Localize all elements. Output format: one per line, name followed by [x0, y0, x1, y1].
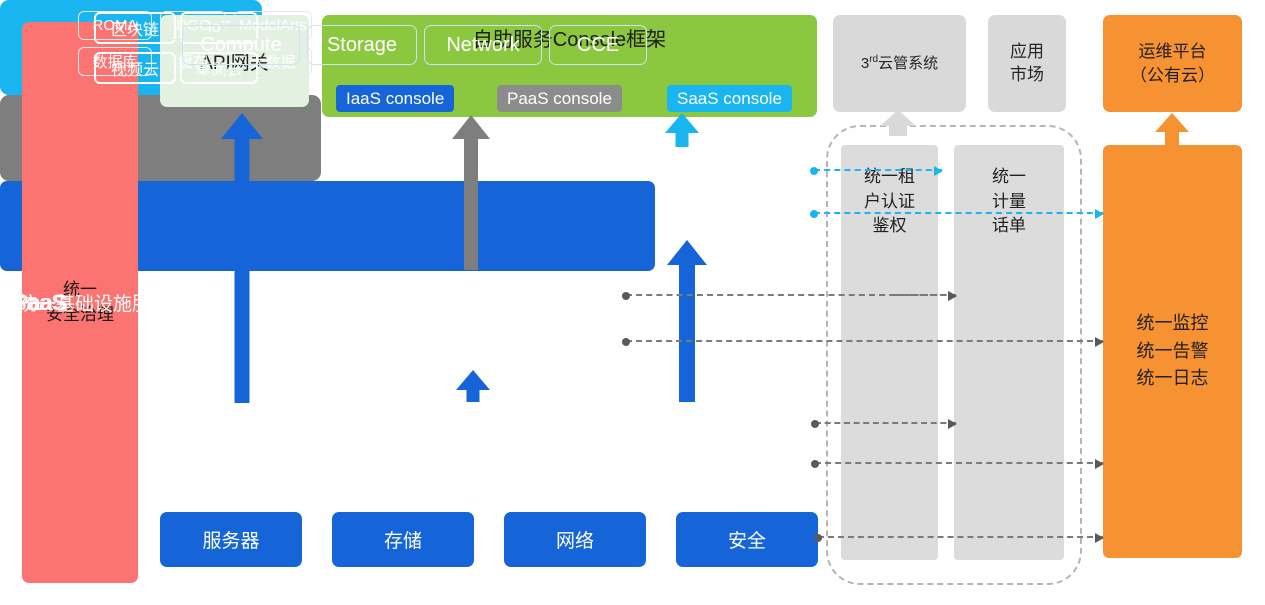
ops-body-line-3: 统一日志 [1137, 365, 1209, 393]
resource-tile-storage[interactable]: 存储 [332, 512, 474, 567]
resource-tile-server[interactable]: 服务器 [160, 512, 302, 567]
infra-chip-label: Compute [200, 34, 281, 57]
infra-service-cce[interactable]: CCE [549, 25, 647, 65]
arrow-infra-to-saas [667, 240, 707, 402]
dashed-paas-row2-to-ops [626, 340, 1103, 342]
arrow-shared-to-third-party [880, 110, 916, 136]
dashed-saas-to-ops [814, 212, 1103, 214]
third-party-prefix: 3 [861, 55, 869, 72]
resource-tile-label: 服务器 [202, 526, 259, 553]
unified-tenant-auth-column: 统一租 户认证 鉴权 [841, 145, 938, 560]
dashed-saas-to-auth [814, 169, 942, 171]
infra-service-compute[interactable]: Compute [182, 25, 300, 65]
arrow-infra-to-paas [456, 370, 490, 402]
ops-platform-line-1: 运维平台 [1130, 40, 1215, 64]
unified-metering-column: 统一 计量 话单 [954, 145, 1064, 560]
third-party-cloud-mgmt-box: 3rd云管系统 [833, 15, 966, 112]
infrastructure-label: 统一基础设施服务 [18, 0, 170, 605]
saas-console-chip[interactable]: SaaS console [667, 85, 792, 112]
unified-infrastructure-bar: 统一基础设施服务 Compute Storage Network CCE [0, 181, 655, 271]
resource-tile-security[interactable]: 安全 [676, 512, 818, 567]
resource-tile-network[interactable]: 网络 [504, 512, 646, 567]
infra-chip-label: CCE [577, 34, 619, 57]
ops-platform-header-box: 运维平台 （公有云） [1103, 15, 1242, 112]
metering-line-1: 统一 [992, 165, 1026, 190]
app-market-line-1: 应用 [1010, 41, 1044, 64]
resource-tile-label: 存储 [384, 526, 422, 553]
dashed-auth-to-metering [894, 294, 956, 296]
ops-body-line-1: 统一监控 [1137, 310, 1209, 338]
iaas-console-label: IaaS console [346, 89, 444, 109]
arrow-ops-body-to-ops-header [1155, 113, 1189, 145]
architecture-diagram-canvas: 统一 安全治理 API网关 自助服务Console框架 IaaS console… [0, 0, 1265, 605]
iaas-console-chip[interactable]: IaaS console [336, 85, 454, 112]
arrow-infra-to-api-gateway [221, 113, 263, 403]
metering-line-2: 计量 [992, 190, 1026, 215]
ops-platform-line-2: （公有云） [1130, 64, 1215, 88]
resource-tile-label: 安全 [728, 526, 766, 553]
arrow-paas-to-console [452, 115, 490, 270]
infra-chip-label: Storage [327, 34, 397, 57]
third-party-rest: 云管系统 [878, 55, 938, 72]
dashed-infra-row2-to-ops [815, 462, 1103, 464]
resource-tile-label: 网络 [556, 526, 594, 553]
auth-line-2: 户认证 [864, 190, 915, 215]
dashed-infra-row1-to-metering [815, 422, 956, 424]
auth-line-3: 鉴权 [864, 214, 915, 239]
ops-platform-body-column: 统一监控 统一告警 统一日志 [1103, 145, 1242, 558]
saas-console-label: SaaS console [677, 89, 782, 109]
infra-service-storage[interactable]: Storage [307, 25, 417, 65]
ops-body-line-2: 统一告警 [1137, 338, 1209, 366]
infra-chip-label: Network [446, 34, 519, 57]
metering-line-3: 话单 [992, 214, 1026, 239]
arrow-saas-to-console [665, 113, 699, 147]
paas-console-chip[interactable]: PaaS console [497, 85, 622, 112]
app-market-box: 应用 市场 [988, 15, 1066, 112]
paas-console-label: PaaS console [507, 89, 612, 109]
app-market-line-2: 市场 [1010, 64, 1044, 87]
dashed-resources-to-ops [818, 536, 1103, 538]
infra-service-network[interactable]: Network [424, 25, 542, 65]
third-party-superscript: rd [869, 54, 878, 65]
